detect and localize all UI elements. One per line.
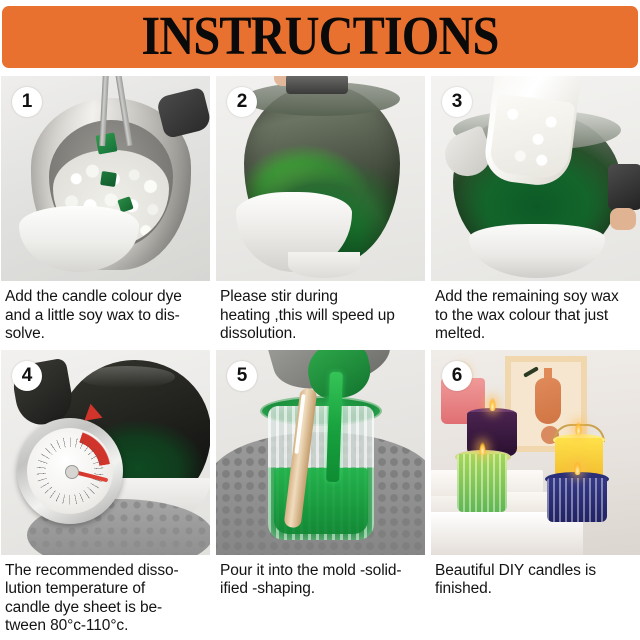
step-photo-5: 5 — [216, 350, 425, 555]
flame-icon — [574, 462, 581, 475]
step-badge-2: 2 — [227, 87, 257, 117]
candle-navy — [547, 478, 607, 522]
step-badge-6: 6 — [442, 361, 472, 391]
step-badge-4: 4 — [12, 361, 42, 391]
step-caption-1: Add the candle colour dye and a little s… — [1, 281, 210, 344]
step-caption-5: Pour it into the mold -solid- ified -sha… — [216, 555, 425, 599]
candle-purple — [467, 412, 517, 456]
hand — [610, 208, 636, 230]
step-item-6: 6 Beautiful DIY candles is finished. — [431, 350, 640, 636]
step-caption-4: The recommended disso- lution temperatur… — [1, 555, 210, 636]
step-item-3: 3 Add the remaining soy wax to the wax c… — [431, 76, 640, 344]
wax-pellets — [489, 94, 576, 181]
pitcher-highlight — [79, 366, 175, 388]
pitcher-handle — [608, 164, 640, 210]
step-caption-6: Beautiful DIY candles is finished. — [431, 555, 640, 599]
header-banner: INSTRUCTIONS — [2, 6, 638, 68]
candle-green — [457, 454, 507, 512]
thermometer-hub — [65, 465, 79, 479]
page-title: INSTRUCTIONS — [141, 9, 498, 64]
step-badge-1: 1 — [12, 87, 42, 117]
step-photo-4: 4 — [1, 350, 210, 555]
step-photo-1: 1 — [1, 76, 210, 281]
pitcher-base — [469, 224, 605, 278]
flame-icon — [489, 398, 496, 411]
step-photo-2: 2 — [216, 76, 425, 281]
step-badge-3: 3 — [442, 87, 472, 117]
step-badge-5: 5 — [227, 361, 257, 391]
pitcher-lip — [288, 252, 360, 278]
step-item-2: 2 Please stir during heating ,this will … — [216, 76, 425, 344]
dye-cube-icon — [100, 171, 117, 187]
step-photo-3: 3 — [431, 76, 640, 281]
step-caption-3: Add the remaining soy wax to the wax col… — [431, 281, 640, 344]
flame-icon — [479, 442, 486, 455]
flame-icon — [575, 422, 582, 435]
pitcher-handle — [286, 76, 348, 94]
steps-row-bottom: 4 The recommended disso- lution temperat… — [0, 350, 640, 636]
instructions-page: INSTRUCTIONS 1 Add the — [0, 0, 640, 640]
step-item-4: 4 The recommended disso- lution temperat… — [1, 350, 210, 636]
step-photo-6: 6 — [431, 350, 640, 555]
step-item-5: 5 Pour it into the mold -solid- ified -s… — [216, 350, 425, 636]
steps-grid: 1 Add the candle colour dye and a little… — [0, 76, 640, 640]
frame-art-vase — [535, 378, 561, 424]
step-caption-2: Please stir during heating ,this will sp… — [216, 281, 425, 344]
step-item-1: 1 Add the candle colour dye and a little… — [1, 76, 210, 344]
steps-row-top: 1 Add the candle colour dye and a little… — [0, 76, 640, 344]
